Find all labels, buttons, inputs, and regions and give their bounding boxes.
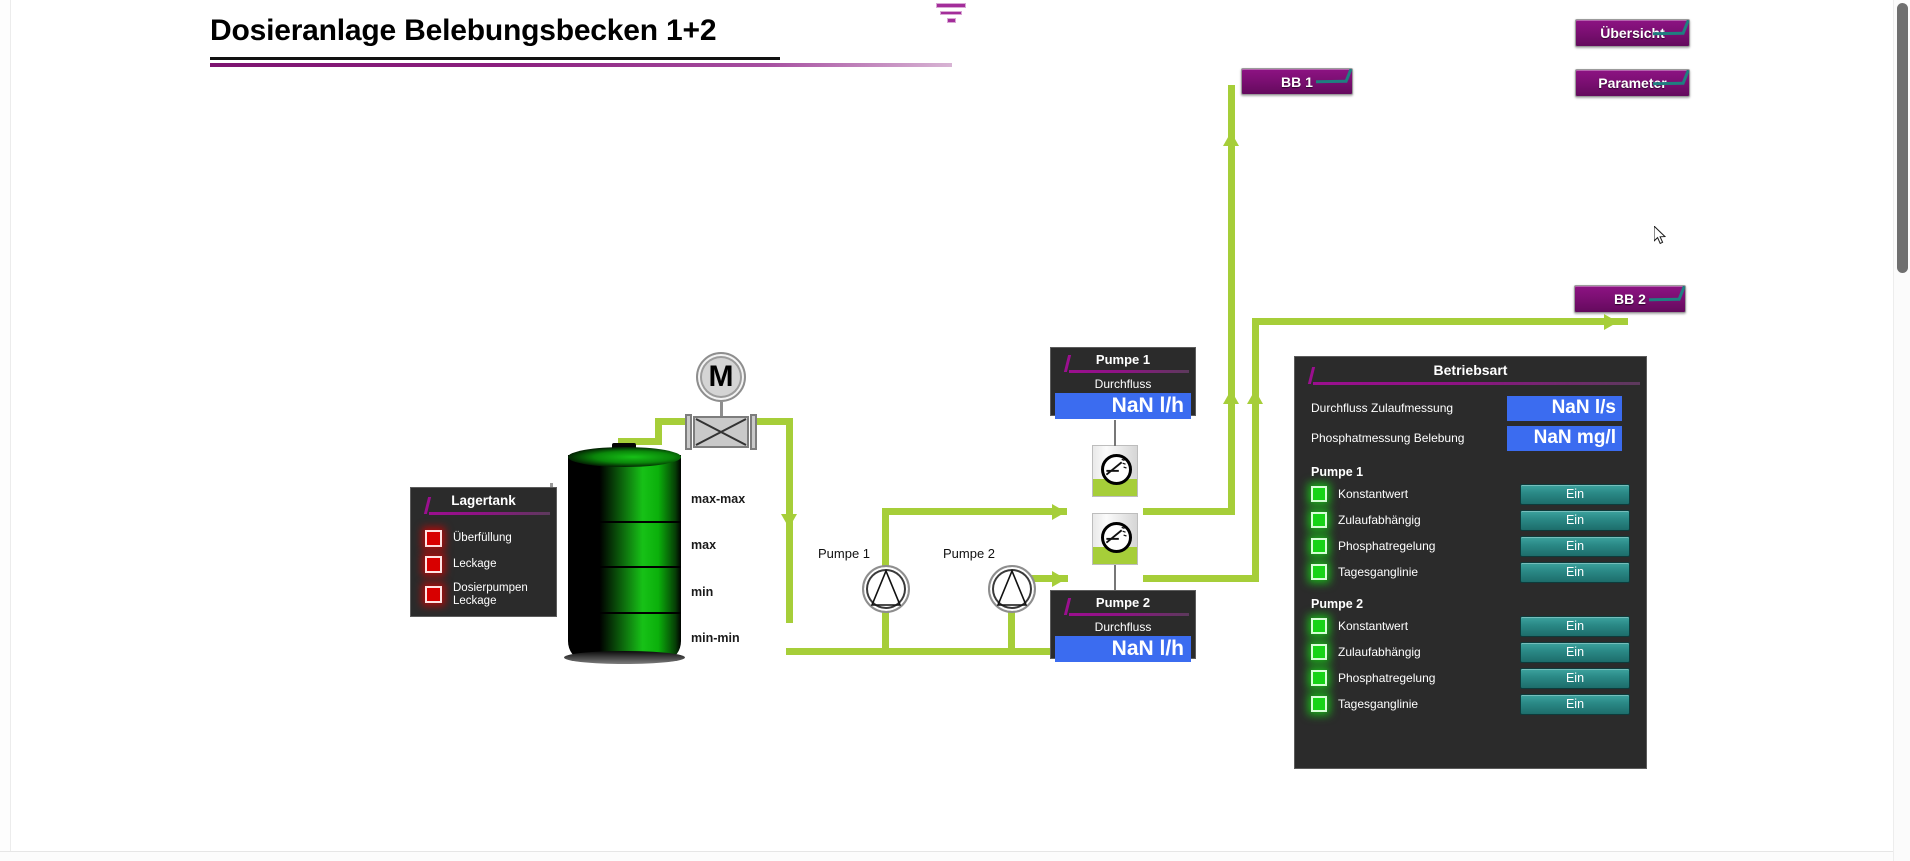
valve-bowtie-icon	[695, 418, 747, 446]
uebersicht-button-label: Übersicht	[1600, 25, 1665, 41]
mode-label: Zulaufabhängig	[1338, 513, 1520, 527]
mouse-cursor-icon	[1654, 226, 1666, 245]
pumpe1-symbol[interactable]	[862, 565, 910, 613]
pumpe1-label: Pumpe 1	[818, 546, 870, 561]
page-left-edge	[0, 0, 11, 861]
page-title: Dosieranlage Belebungsbecken 1+2	[210, 14, 716, 48]
pipe-meter2-out	[1143, 575, 1258, 582]
status-led-icon	[1311, 564, 1327, 580]
tank-top-cap	[568, 447, 681, 467]
pipe-pump1-suction	[882, 608, 889, 652]
mode-row: Zulaufabhängig Ein	[1311, 642, 1646, 663]
mode-toggle-button[interactable]: Ein	[1520, 616, 1630, 637]
status-led-icon	[1311, 644, 1327, 660]
motor-valve[interactable]: M	[685, 352, 757, 457]
alarm-row[interactable]: Überfüllung	[425, 530, 556, 547]
alarm-label: Dosierpumpen Leckage	[453, 582, 545, 608]
mode-toggle-button[interactable]: Ein	[1520, 536, 1630, 557]
pumpe2-flow-value: NaN l/h	[1055, 636, 1191, 662]
mode-row: Phosphatregelung Ein	[1311, 668, 1646, 689]
flow-arrow-up-icon	[1247, 390, 1263, 404]
flow-arrow-up-icon	[1223, 132, 1239, 146]
bb2-button[interactable]: BB 2	[1574, 285, 1686, 313]
lagertank-panel-title: Lagertank	[411, 488, 556, 512]
pumpe2-symbol[interactable]	[988, 565, 1036, 613]
measurement-row: Phosphatmessung Belebung NaN mg/l	[1311, 426, 1646, 451]
mode-toggle-button[interactable]: Ein	[1520, 562, 1630, 583]
mode-row: Konstantwert Ein	[1311, 616, 1646, 637]
bb1-button-label: BB 1	[1281, 74, 1313, 90]
alarm-row[interactable]: Dosierpumpen Leckage	[425, 582, 556, 608]
valve-body-icon	[693, 416, 749, 448]
panel-accent	[411, 512, 556, 521]
pipe-bb1-riser	[1228, 85, 1235, 515]
title-accent-rule	[210, 63, 952, 67]
measurement-value: NaN mg/l	[1507, 426, 1622, 451]
page-title-block: Dosieranlage Belebungsbecken 1+2	[210, 14, 716, 48]
gauge-needle-icon	[1093, 514, 1137, 564]
betriebsart-panel: Betriebsart Durchfluss Zulaufmessung NaN…	[1294, 356, 1647, 769]
mode-toggle-button[interactable]: Ein	[1520, 510, 1630, 531]
mode-label: Tagesganglinie	[1338, 565, 1520, 579]
mode-row: Zulaufabhängig Ein	[1311, 510, 1646, 531]
mode-label: Konstantwert	[1338, 487, 1520, 501]
alarm-label: Überfüllung	[453, 532, 512, 545]
flow-arrow-right-icon	[1604, 314, 1618, 330]
parameter-button-label: Parameter	[1598, 75, 1667, 91]
gauge-needle-icon	[1093, 446, 1137, 496]
mode-row: Tagesganglinie Ein	[1311, 562, 1646, 583]
pumpe2-flow-panel: Pumpe 2 Durchfluss NaN l/h	[1050, 590, 1196, 659]
pumpe2-flow-sub: Durchfluss	[1051, 620, 1195, 634]
group-title-pumpe2: Pumpe 2	[1311, 597, 1646, 611]
pump-triangle-icon	[988, 565, 1036, 613]
measurement-label: Phosphatmessung Belebung	[1311, 431, 1507, 445]
panel-accent	[1295, 382, 1646, 391]
pump-triangle-icon	[862, 565, 910, 613]
title-underline	[210, 57, 780, 60]
alarm-led-icon	[425, 586, 442, 603]
pipe-suction-header	[786, 648, 1056, 655]
mode-row: Phosphatregelung Ein	[1311, 536, 1646, 557]
uebersicht-button[interactable]: Übersicht	[1575, 19, 1690, 47]
pumpe1-flow-panel: Pumpe 1 Durchfluss NaN l/h	[1050, 347, 1196, 416]
mode-label: Tagesganglinie	[1338, 697, 1520, 711]
group-title-pumpe1: Pumpe 1	[1311, 465, 1646, 479]
pumpe2-flow-title: Pumpe 2	[1051, 591, 1195, 613]
mode-toggle-button[interactable]: Ein	[1520, 642, 1630, 663]
status-led-icon	[1311, 696, 1327, 712]
bb2-button-label: BB 2	[1614, 291, 1646, 307]
hmi-screen: Dosieranlage Belebungsbecken 1+2 Übersic…	[0, 0, 1910, 861]
mode-label: Phosphatregelung	[1338, 671, 1520, 685]
pumpe1-flow-title: Pumpe 1	[1051, 348, 1195, 370]
pipe-bb2-header	[1252, 318, 1628, 325]
status-led-icon	[1311, 486, 1327, 502]
pipe-pump1-to-meter	[882, 508, 1067, 515]
measurement-value: NaN l/s	[1507, 396, 1622, 421]
flow-arrow-right-icon	[1052, 571, 1066, 587]
parameter-button[interactable]: Parameter	[1575, 69, 1690, 97]
status-led-icon	[1311, 538, 1327, 554]
pipe-meter1-out	[1143, 508, 1235, 515]
lagertank-vessel: max-max max min min-min	[568, 447, 681, 667]
alarm-row[interactable]: Leckage	[425, 556, 556, 573]
mode-label: Konstantwert	[1338, 619, 1520, 633]
pipe-pump1-discharge	[882, 508, 889, 566]
tank-level-label-minmin: min-min	[691, 631, 740, 645]
alarm-led-icon	[425, 530, 442, 547]
flowmeter2-stem	[1114, 565, 1116, 591]
flowmeter1-stem	[1114, 420, 1116, 446]
lagertank-panel: Lagertank Überfüllung Leckage Dosierpump…	[410, 487, 557, 617]
pumpe1-flow-value: NaN l/h	[1055, 393, 1191, 419]
tank-level-label-max: max	[691, 538, 716, 552]
motor-label: M	[709, 362, 734, 392]
mode-row: Tagesganglinie Ein	[1311, 694, 1646, 715]
flowmeter-pumpe2[interactable]	[1092, 513, 1138, 565]
bb1-button[interactable]: BB 1	[1241, 68, 1353, 95]
alarm-led-icon	[425, 556, 442, 573]
mode-toggle-button[interactable]: Ein	[1520, 484, 1630, 505]
betriebsart-title: Betriebsart	[1295, 357, 1646, 382]
tank-level-line	[568, 612, 681, 614]
flow-arrow-down-icon	[781, 514, 797, 528]
tank-body	[568, 455, 681, 659]
tank-level-label-min: min	[691, 585, 713, 599]
status-led-icon	[1311, 512, 1327, 528]
motor-icon: M	[696, 352, 746, 402]
mode-label: Zulaufabhängig	[1338, 645, 1520, 659]
panel-accent	[1051, 613, 1195, 617]
measurement-label: Durchfluss Zulaufmessung	[1311, 401, 1507, 415]
tank-level-line	[568, 566, 681, 568]
mode-label: Phosphatregelung	[1338, 539, 1520, 553]
pipe-bb2-riser	[1252, 318, 1259, 582]
tank-base	[564, 651, 685, 664]
scrollbar-thumb[interactable]	[1897, 3, 1908, 273]
vertical-scrollbar[interactable]	[1893, 0, 1910, 861]
flowmeter-pumpe1[interactable]	[1092, 445, 1138, 497]
measurement-row: Durchfluss Zulaufmessung NaN l/s	[1311, 396, 1646, 421]
status-led-icon	[1311, 670, 1327, 686]
valve-flange-right	[750, 414, 757, 450]
page-bottom-edge	[0, 851, 1910, 861]
status-led-icon	[1311, 618, 1327, 634]
pumpe2-label: Pumpe 2	[943, 546, 995, 561]
mode-toggle-button[interactable]: Ein	[1520, 668, 1630, 689]
flow-arrow-up-icon	[1223, 390, 1239, 404]
tank-level-label-maxmax: max-max	[691, 492, 745, 506]
tank-level-line	[568, 521, 681, 523]
funnel-icon	[936, 3, 966, 25]
flow-arrow-right-icon	[1052, 504, 1066, 520]
mode-toggle-button[interactable]: Ein	[1520, 694, 1630, 715]
mode-row: Konstantwert Ein	[1311, 484, 1646, 505]
pumpe1-flow-sub: Durchfluss	[1051, 377, 1195, 391]
panel-accent	[1051, 370, 1195, 374]
alarm-label: Leckage	[453, 558, 496, 571]
valve-flange-left	[685, 414, 692, 450]
